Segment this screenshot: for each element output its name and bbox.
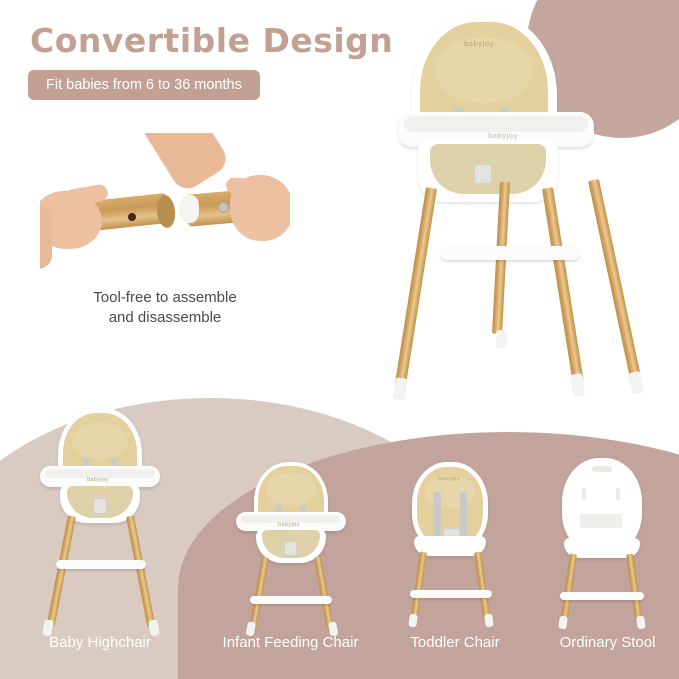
hero-leg-front-left	[395, 187, 437, 386]
arm-left	[40, 205, 52, 269]
hero-leg-back-right	[588, 179, 642, 383]
variant-baby-highchair: babyjoy	[30, 408, 170, 623]
variant3-leg-tip-right	[484, 613, 494, 627]
wood-dowel-right-cap	[179, 195, 199, 223]
assembly-photo	[40, 133, 290, 278]
variant1-buckle	[93, 498, 107, 514]
variant3-harness-right	[460, 492, 467, 536]
variant-label-infant-feeding-chair: Infant Feeding Chair	[198, 634, 383, 651]
assembly-hole	[128, 213, 136, 221]
variant-label-toddler-chair: Toddler Chair	[385, 634, 525, 651]
variant4-leg-tip-right	[636, 615, 646, 629]
variant3-leg-left	[411, 552, 427, 620]
variant3-footrest	[410, 590, 492, 598]
variant1-leg-left	[47, 515, 76, 626]
hero-tray-logo: babyjoy	[488, 132, 518, 140]
hero-leg-front-right	[542, 187, 584, 382]
page-title: Convertible Design	[30, 24, 393, 57]
variant4-leg-left	[561, 554, 577, 622]
assembly-screw	[218, 202, 229, 213]
hero-leg-tip-front-left	[393, 377, 408, 401]
hero-tray-lip	[404, 116, 588, 132]
variant1-footrest	[56, 560, 146, 569]
variant2-buckle	[284, 541, 297, 556]
hero-leg-tip-back-left	[496, 330, 507, 348]
hero-highchair: babyjoy babyjoy	[392, 12, 662, 402]
age-range-badge: Fit babies from 6 to 36 months	[28, 70, 260, 100]
variant1-leg-right	[126, 515, 155, 626]
hero-leg-tip-back-right	[628, 371, 644, 395]
infographic-canvas: Convertible Design Fit babies from 6 to …	[0, 0, 679, 679]
arm-right	[126, 133, 231, 194]
variant4-harness-slot-left	[582, 488, 586, 500]
variant4-vent-slots	[580, 514, 622, 528]
assembly-caption: Tool-free to assemble and disassemble	[40, 288, 290, 329]
hero-buckle	[474, 164, 492, 184]
variant3-cushion-logo: babyjoy	[438, 476, 460, 482]
hero-cushion-logo: babyjoy	[464, 40, 494, 48]
assembly-caption-line1: Tool-free to assemble	[40, 288, 290, 308]
age-range-badge-label: Fit babies from 6 to 36 months	[46, 77, 242, 93]
variant-label-baby-highchair: Baby Highchair	[20, 634, 180, 651]
variant-toddler-chair: babyjoy	[398, 462, 508, 622]
variant3-leg-right	[474, 552, 490, 620]
variant4-leg-right	[626, 554, 642, 622]
variant-ordinary-stool	[550, 458, 660, 623]
variant2-footrest	[250, 596, 332, 604]
variant4-harness-slot-right	[616, 488, 620, 500]
hero-footrest	[440, 246, 580, 260]
variant-label-ordinary-stool: Ordinary Stool	[535, 634, 679, 651]
assembly-caption-line2: and disassemble	[40, 308, 290, 328]
variant4-handle-slot	[592, 466, 612, 472]
variant2-leg-right	[314, 556, 333, 628]
variant3-harness-left	[434, 492, 441, 536]
variant2-leg-left	[250, 556, 269, 628]
variant4-footrest	[560, 592, 644, 600]
variant-infant-feeding-chair: babyjoy	[228, 462, 353, 622]
